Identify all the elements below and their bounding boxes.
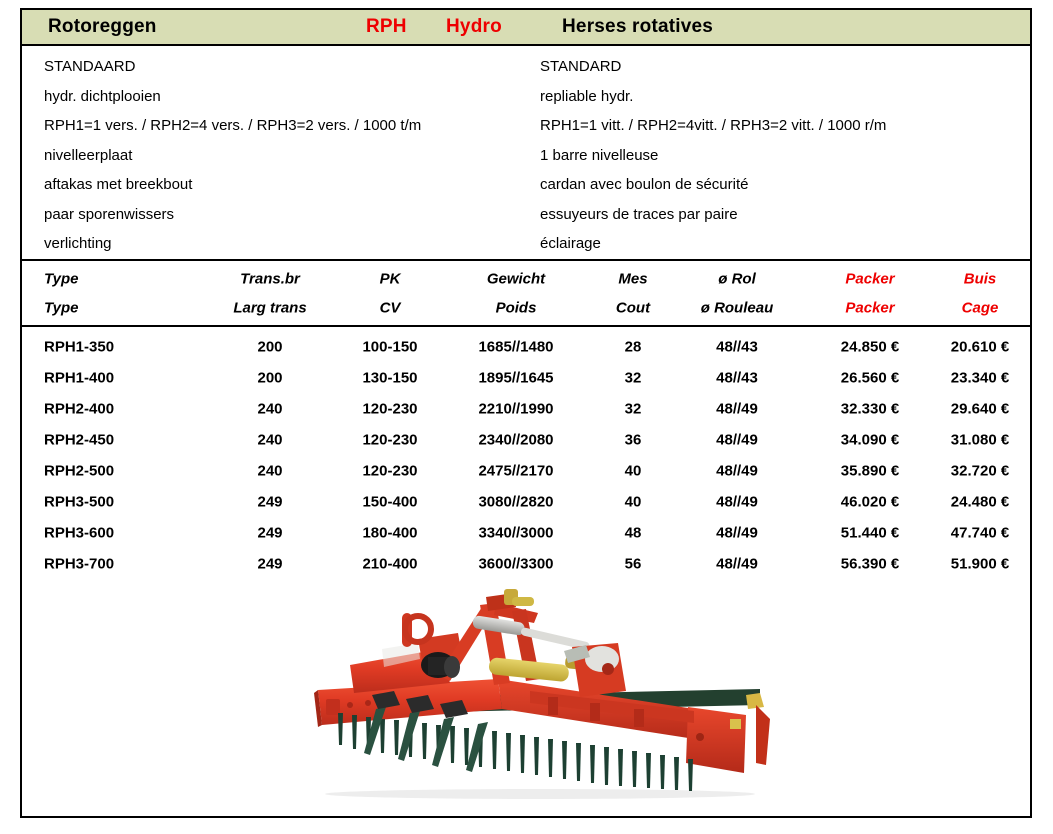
table-row[interactable]: RPH2-400 240 120-230 2210//1990 32 48//4…: [22, 393, 1030, 424]
spec-line: hydr. dichtplooien: [44, 82, 544, 112]
spec-line: essuyeurs de traces par paire: [540, 200, 1020, 230]
spec-line: paar sporenwissers: [44, 200, 544, 230]
table-body: RPH1-350 200 100-150 1685//1480 28 48//4…: [22, 327, 1030, 579]
cell-blades: 48: [592, 524, 674, 541]
cell-roller: 48//49: [670, 400, 804, 417]
col-header-weight: Gewicht: [446, 270, 586, 287]
table-row[interactable]: RPH1-350 200 100-150 1685//1480 28 48//4…: [22, 331, 1030, 362]
cell-blades: 36: [592, 431, 674, 448]
rotary-harrow-photo: [290, 587, 792, 799]
cell-weight: 3340//3000: [446, 524, 586, 541]
cell-price-cage: 24.480 €: [930, 493, 1030, 510]
spec-column-dutch: STANDAARD hydr. dichtplooien RPH1=1 vers…: [44, 52, 544, 259]
table-header-row-french: Type Larg trans CV Poids Cout ø Rouleau …: [22, 293, 1030, 322]
cell-price-cage: 31.080 €: [930, 431, 1030, 448]
cell-weight: 1685//1480: [446, 338, 586, 355]
cell-power: 120-230: [338, 400, 442, 417]
col-header-roller: ø Rol: [670, 270, 804, 287]
spec-line: RPH1=1 vers. / RPH2=4 vers. / RPH3=2 ver…: [44, 111, 544, 141]
spec-line: verlichting: [44, 229, 544, 259]
table-row[interactable]: RPH3-500 249 150-400 3080//2820 40 48//4…: [22, 486, 1030, 517]
cell-width: 240: [212, 400, 328, 417]
cell-power: 130-150: [338, 369, 442, 386]
cell-price-packer: 46.020 €: [812, 493, 928, 510]
spec-line: STANDAARD: [44, 52, 544, 82]
spec-line: repliable hydr.: [540, 82, 1020, 112]
cell-type: RPH1-400: [44, 369, 114, 386]
spec-line: RPH1=1 vitt. / RPH2=4vitt. / RPH3=2 vitt…: [540, 111, 1020, 141]
cell-price-packer: 32.330 €: [812, 400, 928, 417]
col-header-width-fr: Larg trans: [212, 299, 328, 316]
cell-price-cage: 23.340 €: [930, 369, 1030, 386]
cell-roller: 48//49: [670, 555, 804, 572]
cell-power: 120-230: [338, 462, 442, 479]
cell-weight: 1895//1645: [446, 369, 586, 386]
col-header-cage: Buis: [930, 270, 1030, 287]
cell-blades: 40: [592, 462, 674, 479]
model-type: Hydro: [446, 16, 502, 38]
cell-roller: 48//49: [670, 493, 804, 510]
cell-price-cage: 20.610 €: [930, 338, 1030, 355]
cell-width: 200: [212, 338, 328, 355]
cell-type: RPH2-450: [44, 431, 114, 448]
cell-width: 249: [212, 493, 328, 510]
col-header-blades: Mes: [592, 270, 674, 287]
table-row[interactable]: RPH1-400 200 130-150 1895//1645 32 48//4…: [22, 362, 1030, 393]
cell-roller: 48//49: [670, 524, 804, 541]
col-header-power: PK: [338, 270, 442, 287]
gearbox: [564, 643, 626, 697]
cell-roller: 48//43: [670, 369, 804, 386]
col-header-cage-fr: Cage: [930, 299, 1030, 316]
table-row[interactable]: RPH3-600 249 180-400 3340//3000 48 48//4…: [22, 517, 1030, 548]
title-band: Rotoreggen RPH Hydro Herses rotatives: [22, 10, 1030, 46]
cell-price-cage: 29.640 €: [930, 400, 1030, 417]
model-code: RPH: [366, 16, 407, 38]
table-row[interactable]: RPH2-500 240 120-230 2475//2170 40 48//4…: [22, 455, 1030, 486]
cell-roller: 48//49: [670, 462, 804, 479]
col-header-type-fr: Type: [44, 299, 78, 316]
cell-blades: 32: [592, 369, 674, 386]
cell-power: 120-230: [338, 431, 442, 448]
table-row[interactable]: RPH2-450 240 120-230 2340//2080 36 48//4…: [22, 424, 1030, 455]
cell-type: RPH2-500: [44, 462, 114, 479]
cell-type: RPH1-350: [44, 338, 114, 355]
price-sheet-page: Rotoreggen RPH Hydro Herses rotatives ST…: [0, 0, 1053, 832]
cell-type: RPH2-400: [44, 400, 114, 417]
cell-power: 180-400: [338, 524, 442, 541]
spec-line: aftakas met breekbout: [44, 170, 544, 200]
cell-price-packer: 24.850 €: [812, 338, 928, 355]
cell-price-cage: 51.900 €: [930, 555, 1030, 572]
col-header-width: Trans.br: [212, 270, 328, 287]
cell-blades: 32: [592, 400, 674, 417]
spec-sheet: Rotoreggen RPH Hydro Herses rotatives ST…: [20, 8, 1032, 818]
cell-weight: 2210//1990: [446, 400, 586, 417]
page-title-fr: Herses rotatives: [562, 16, 713, 38]
spec-column-french: STANDARD repliable hydr. RPH1=1 vitt. / …: [540, 52, 1020, 259]
cell-width: 200: [212, 369, 328, 386]
cell-price-packer: 51.440 €: [812, 524, 928, 541]
col-header-packer: Packer: [812, 270, 928, 287]
cell-price-packer: 35.890 €: [812, 462, 928, 479]
standard-equipment-block: STANDAARD hydr. dichtplooien RPH1=1 vers…: [22, 46, 1030, 261]
col-header-roller-fr: ø Rouleau: [670, 299, 804, 316]
cell-type: RPH3-700: [44, 555, 114, 572]
cell-power: 210-400: [338, 555, 442, 572]
col-header-blades-fr: Cout: [592, 299, 674, 316]
cell-width: 240: [212, 462, 328, 479]
cell-type: RPH3-600: [44, 524, 114, 541]
cell-price-packer: 56.390 €: [812, 555, 928, 572]
spec-line: éclairage: [540, 229, 1020, 259]
cell-roller: 48//43: [670, 338, 804, 355]
cell-width: 249: [212, 555, 328, 572]
spec-line: STANDARD: [540, 52, 1020, 82]
cell-price-cage: 32.720 €: [930, 462, 1030, 479]
cell-power: 150-400: [338, 493, 442, 510]
col-header-power-fr: CV: [338, 299, 442, 316]
spec-line: 1 barre nivelleuse: [540, 141, 1020, 171]
cell-width: 249: [212, 524, 328, 541]
cell-weight: 2340//2080: [446, 431, 586, 448]
cell-weight: 2475//2170: [446, 462, 586, 479]
cell-blades: 40: [592, 493, 674, 510]
cell-power: 100-150: [338, 338, 442, 355]
cell-roller: 48//49: [670, 431, 804, 448]
cell-blades: 28: [592, 338, 674, 355]
col-header-weight-fr: Poids: [446, 299, 586, 316]
col-header-type: Type: [44, 270, 78, 287]
table-header: Type Trans.br PK Gewicht Mes ø Rol Packe…: [22, 261, 1030, 327]
col-header-packer-fr: Packer: [812, 299, 928, 316]
cell-type: RPH3-500: [44, 493, 114, 510]
cell-blades: 56: [592, 555, 674, 572]
cell-width: 240: [212, 431, 328, 448]
spec-line: nivelleerplaat: [44, 141, 544, 171]
page-title-nl: Rotoreggen: [48, 16, 157, 38]
table-row[interactable]: RPH3-700 249 210-400 3600//3300 56 48//4…: [22, 548, 1030, 579]
product-photo-area: [22, 579, 1030, 834]
cell-weight: 3080//2820: [446, 493, 586, 510]
cell-price-packer: 34.090 €: [812, 431, 928, 448]
spec-line: cardan avec boulon de sécurité: [540, 170, 1020, 200]
cell-price-cage: 47.740 €: [930, 524, 1030, 541]
table-header-row-dutch: Type Trans.br PK Gewicht Mes ø Rol Packe…: [22, 264, 1030, 293]
cell-weight: 3600//3300: [446, 555, 586, 572]
price-table: Type Trans.br PK Gewicht Mes ø Rol Packe…: [22, 261, 1030, 579]
cell-price-packer: 26.560 €: [812, 369, 928, 386]
